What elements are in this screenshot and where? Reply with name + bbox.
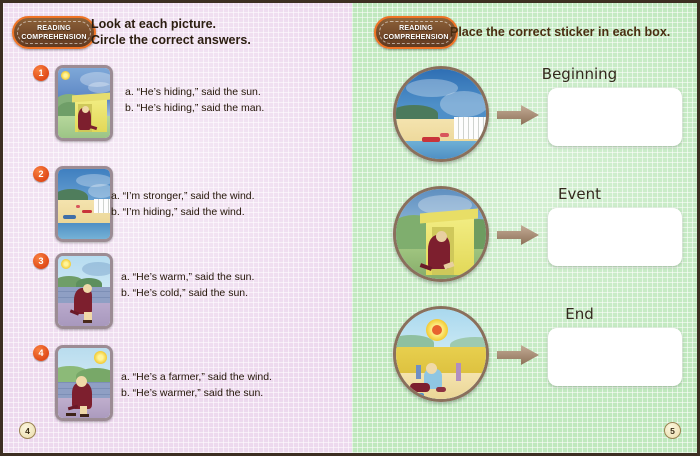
badge-line-2: COMPREHENSION xyxy=(383,33,448,42)
option-1b[interactable]: b. “He’s hiding,” said the man. xyxy=(125,100,264,116)
right-instruction-text: Place the correct sticker in each box. xyxy=(450,24,670,40)
badge-line-1: READING xyxy=(37,24,71,33)
question-options-4: a. “He’s a farmer,” said the wind. b. “H… xyxy=(121,369,272,401)
question-number-4: 4 xyxy=(33,345,49,361)
question-options-3: a. “He’s warm,” said the sun. b. “He’s c… xyxy=(121,269,254,301)
sticker-label-end: End xyxy=(462,305,697,323)
sticker-label-event: Event xyxy=(462,185,697,203)
arrow-icon-end xyxy=(497,344,539,366)
question-number-1: 1 xyxy=(33,65,49,81)
option-2a[interactable]: a. “I’m stronger,” said the wind. xyxy=(111,188,255,204)
right-page: READING COMPREHENSION Place the correct … xyxy=(352,3,697,453)
question-thumbnail-2[interactable] xyxy=(55,166,113,242)
sticker-row-beginning: Beginning xyxy=(352,60,697,176)
left-instruction-text: Look at each picture. Circle the correct… xyxy=(91,16,251,48)
sticker-label-beginning: Beginning xyxy=(462,65,697,83)
badge-line-2: COMPREHENSION xyxy=(21,33,86,42)
option-2b[interactable]: b. “I’m hiding,” said the wind. xyxy=(111,204,255,220)
page-number-left: 4 xyxy=(19,422,36,439)
question-options-2: a. “I’m stronger,” said the wind. b. “I’… xyxy=(111,188,255,220)
sticker-row-end: End xyxy=(352,300,697,416)
option-4b[interactable]: b. “He’s warmer,” said the sun. xyxy=(121,385,272,401)
option-4a[interactable]: a. “He’s a farmer,” said the wind. xyxy=(121,369,272,385)
reading-comprehension-badge-right: READING COMPREHENSION xyxy=(374,16,458,49)
option-3a[interactable]: a. “He’s warm,” said the sun. xyxy=(121,269,254,285)
arrow-icon-beginning xyxy=(497,104,539,126)
left-page: READING COMPREHENSION Look at each pictu… xyxy=(3,3,352,453)
option-1a[interactable]: a. “He’s hiding,” said the sun. xyxy=(125,84,264,100)
reading-comprehension-badge-left: READING COMPREHENSION xyxy=(12,16,96,49)
question-thumbnail-4[interactable] xyxy=(55,345,113,421)
question-number-3: 3 xyxy=(33,253,49,269)
arrow-icon-event xyxy=(497,224,539,246)
sticker-box-beginning[interactable] xyxy=(548,88,682,146)
sticker-row-event: Event xyxy=(352,180,697,296)
sticker-box-event[interactable] xyxy=(548,208,682,266)
sticker-box-end[interactable] xyxy=(548,328,682,386)
question-thumbnail-3[interactable] xyxy=(55,253,113,329)
option-3b[interactable]: b. “He’s cold,” said the sun. xyxy=(121,285,254,301)
question-number-2: 2 xyxy=(33,166,49,182)
badge-line-1: READING xyxy=(399,24,433,33)
question-thumbnail-1[interactable] xyxy=(55,65,113,141)
question-options-1: a. “He’s hiding,” said the sun. b. “He’s… xyxy=(125,84,264,116)
worksheet-spread: READING COMPREHENSION Look at each pictu… xyxy=(0,0,700,456)
page-number-right: 5 xyxy=(664,422,681,439)
